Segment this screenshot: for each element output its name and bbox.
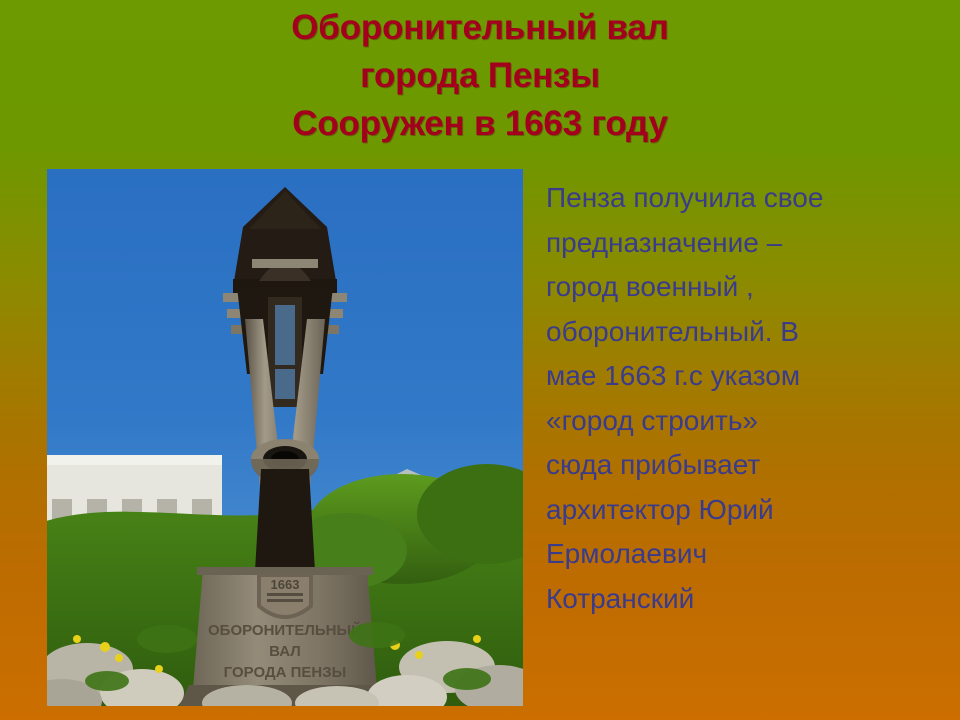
- body-line-9: Ермолаевич: [546, 532, 950, 577]
- body-line-3: город военный ,: [546, 265, 950, 310]
- plaque-line-1: ОБОРОНИТЕЛЬНЫЙ: [208, 621, 362, 639]
- title-line-3: Сооружен в 1663 году: [0, 100, 960, 148]
- title-line-2: города Пензы: [0, 52, 960, 100]
- body-line-7: сюда прибывает: [546, 443, 950, 488]
- body-line-4: оборонительный. В: [546, 310, 950, 355]
- plaque-line-2: ВАЛ: [269, 643, 301, 660]
- monument-photo: 1663 ОБОРОНИТЕЛЬНЫЙ ВАЛ ГОРОДА ПЕНЗЫ СОО…: [47, 169, 523, 706]
- monument-illustration: 1663 ОБОРОНИТЕЛЬНЫЙ ВАЛ ГОРОДА ПЕНЗЫ СОО…: [47, 169, 523, 706]
- body-line-8: архитектор Юрий: [546, 488, 950, 533]
- slide-title: Оборонительный вал города Пензы Сооружен…: [0, 4, 960, 148]
- presentation-slide: Оборонительный вал города Пензы Сооружен…: [0, 0, 960, 720]
- body-line-10: Котранский: [546, 577, 950, 622]
- body-line-6: «город строить»: [546, 399, 950, 444]
- body-line-5: мае 1663 г.с указом: [546, 354, 950, 399]
- slide-body-text: Пенза получила свое предназначение – гор…: [546, 176, 950, 621]
- title-line-1: Оборонительный вал: [0, 4, 960, 52]
- plaque-line-3: ГОРОДА ПЕНЗЫ: [224, 664, 347, 681]
- body-line-2: предназначение –: [546, 221, 950, 266]
- body-line-1: Пенза получила свое: [546, 176, 950, 221]
- emblem-year: 1663: [271, 577, 300, 592]
